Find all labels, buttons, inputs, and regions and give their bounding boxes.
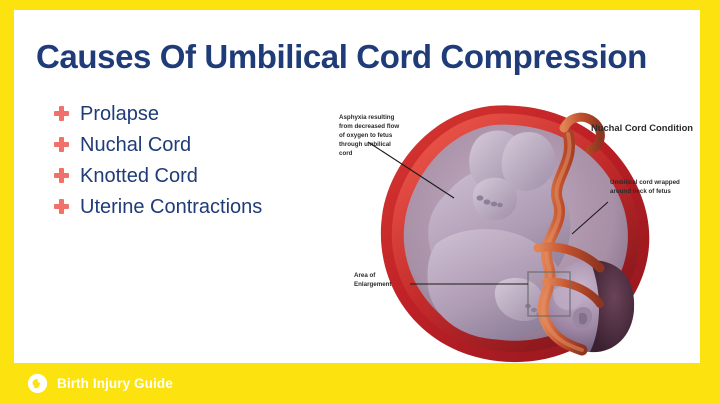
list-item-label: Uterine Contractions [80,197,262,217]
list-item-label: Nuchal Cord [80,135,191,155]
list-item: Nuchal Cord [54,129,334,160]
asphyxia-annotation: Asphyxia resulting from decreased flow o… [339,114,403,159]
nuchal-cord-medical-illustration: Asphyxia resulting from decreased flow o… [332,94,700,363]
birth-injury-guide-logo-icon [27,373,48,394]
page-title: Causes Of Umbilical Cord Compression [36,40,696,75]
plus-cross-icon [54,106,69,121]
causes-list: Prolapse Nuchal Cord Knotted Cord Uterin… [54,98,334,222]
list-item: Uterine Contractions [54,191,334,222]
nuchal-cord-condition-label: Nuchal Cord Condition [590,122,694,135]
plus-cross-icon [54,137,69,152]
list-item-label: Prolapse [80,104,159,124]
plus-cross-icon [54,168,69,183]
list-item: Knotted Cord [54,160,334,191]
area-of-enlargement-annotation: Area of Enlargement [354,272,408,290]
list-item-label: Knotted Cord [80,166,198,186]
brand-name: Birth Injury Guide [57,377,173,391]
list-item: Prolapse [54,98,334,129]
infographic-root: Causes Of Umbilical Cord Compression Pro… [0,0,720,404]
footer-bar: Birth Injury Guide [0,363,720,404]
content-panel: Causes Of Umbilical Cord Compression Pro… [14,10,700,363]
umbilical-cord-wrapped-annotation: Umbilical cord wrapped around neck of fe… [610,179,688,197]
brand-lockup[interactable]: Birth Injury Guide [27,373,173,394]
plus-cross-icon [54,199,69,214]
